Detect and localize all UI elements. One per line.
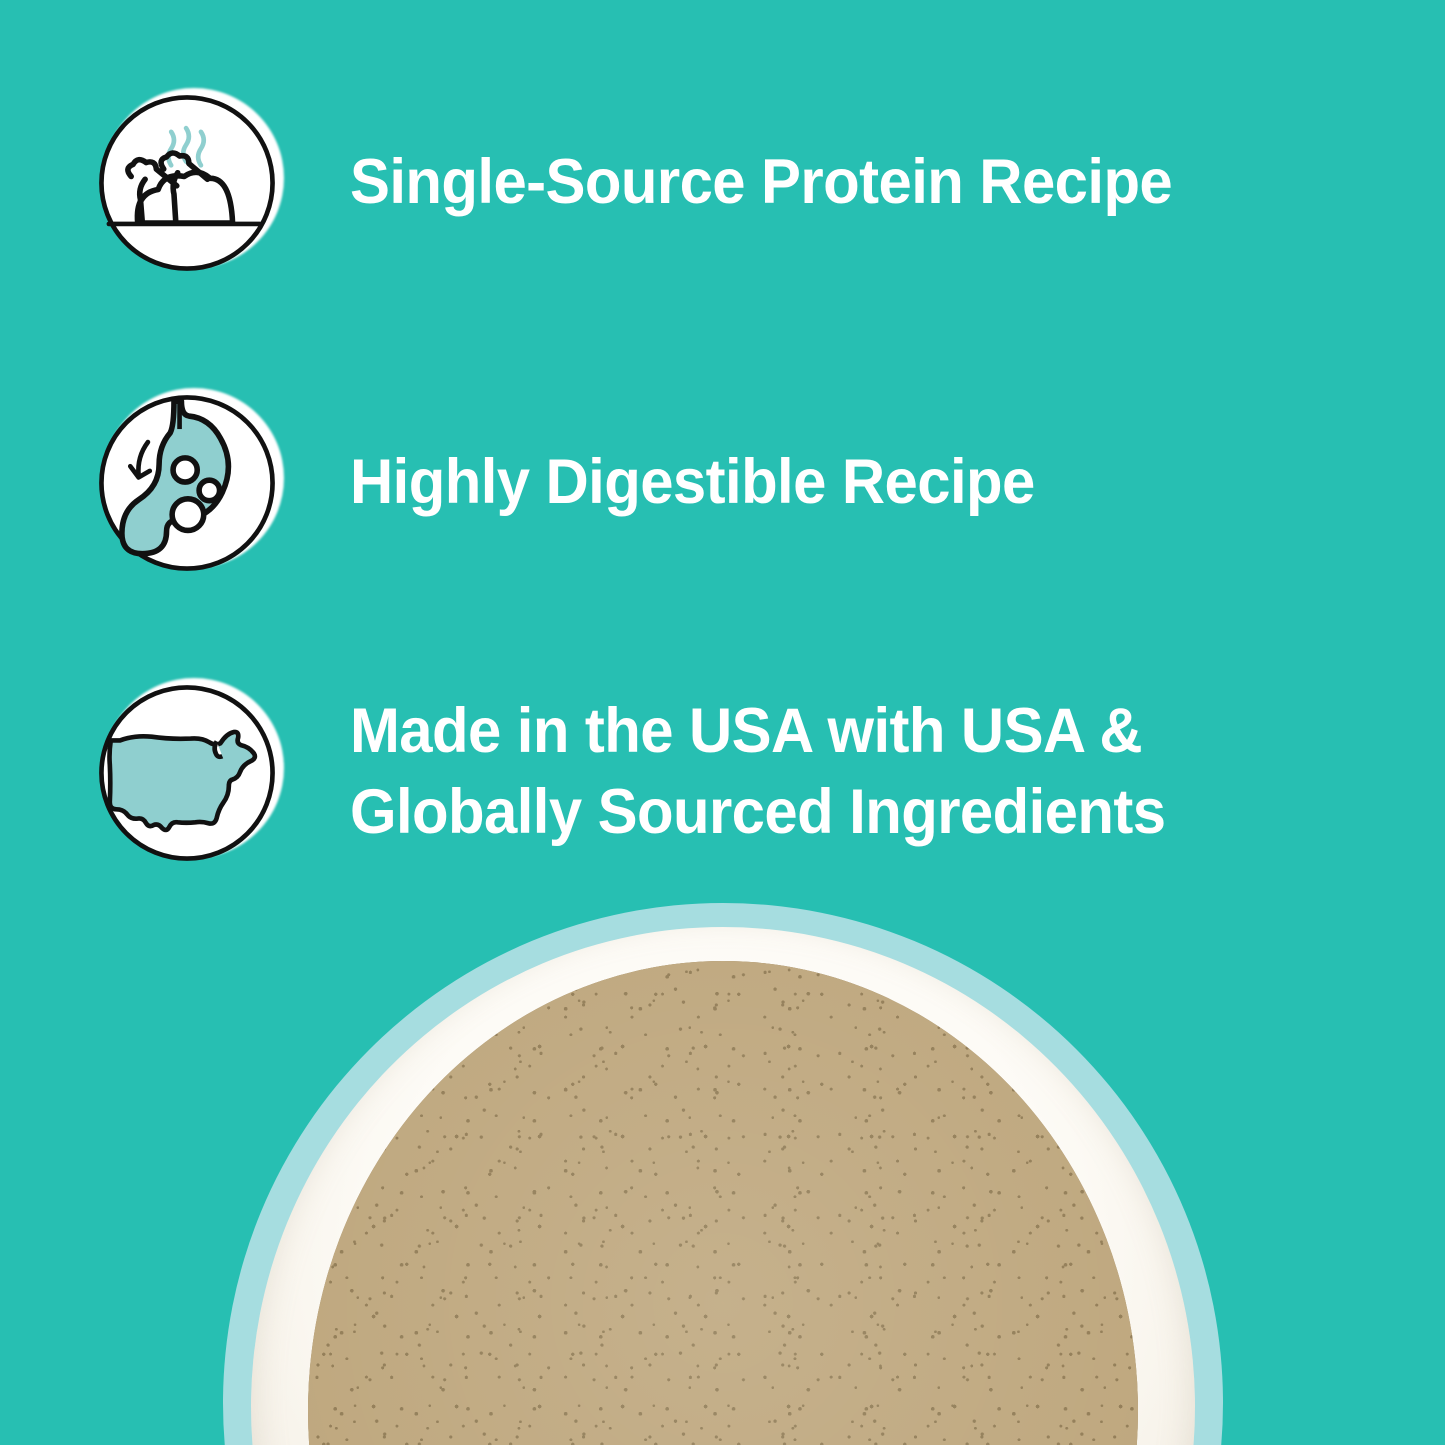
feature-label: Single-Source Protein Recipe: [350, 142, 1172, 223]
feature-list: Single-Source Protein Recipe: [0, 0, 1445, 905]
usa-map-icon: [94, 680, 280, 866]
feature-row-highly-digestible: Highly Digestible Recipe: [88, 382, 1388, 582]
feature-icon-badge: [88, 382, 288, 582]
feature-icon-badge: [88, 672, 288, 872]
feature-icon-badge: [88, 82, 288, 282]
feature-row-single-source-protein: Single-Source Protein Recipe: [88, 82, 1388, 282]
bowl-inner-shadow: [308, 961, 1138, 1445]
feature-row-made-in-usa: Made in the USA with USA & Globally Sour…: [88, 672, 1388, 872]
feature-label: Made in the USA with USA & Globally Sour…: [350, 691, 1165, 853]
feature-label: Highly Digestible Recipe: [350, 442, 1035, 523]
bowl-of-freeze-dried-food: [0, 885, 1445, 1445]
steak-with-bone-steaming-icon: [94, 90, 280, 276]
stomach-digestion-icon: [94, 390, 280, 576]
product-feature-panel: Single-Source Protein Recipe: [0, 0, 1445, 1445]
bowl-interior: [308, 961, 1138, 1445]
